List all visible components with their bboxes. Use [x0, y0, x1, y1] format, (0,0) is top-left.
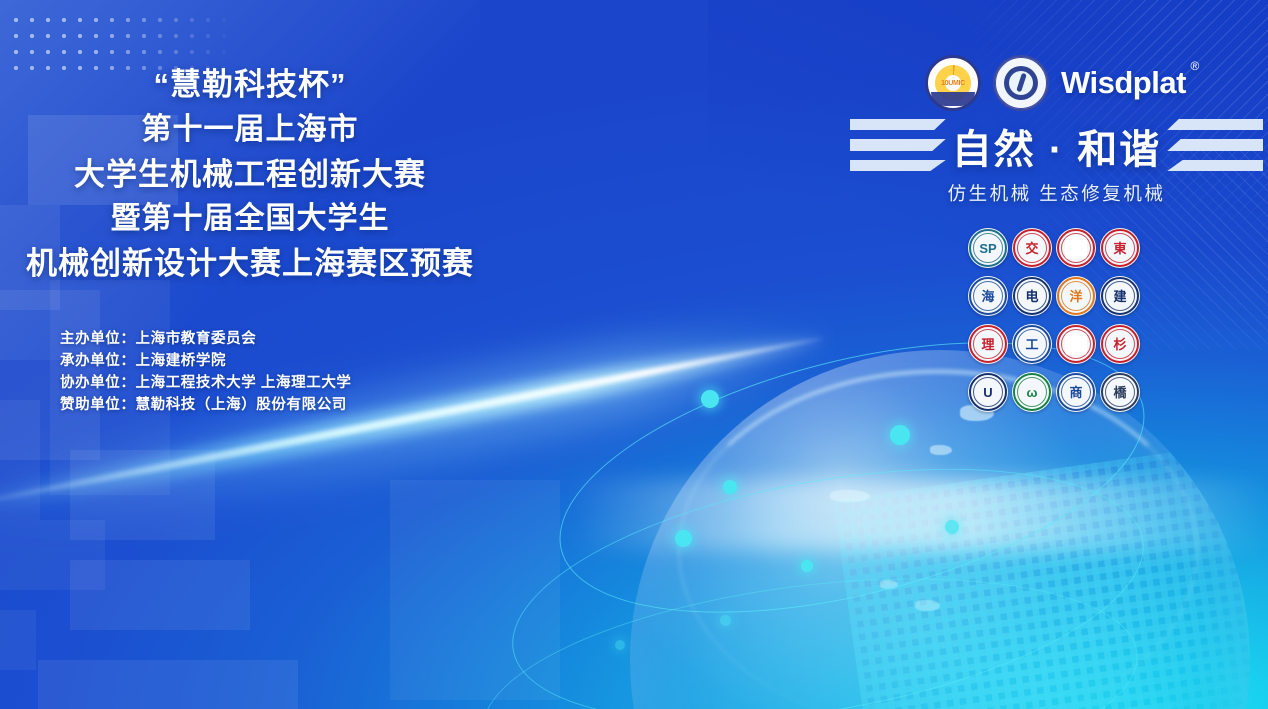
- organizer-block: 主办单位：上海市教育委员会 承办单位：上海建桥学院 协办单位：上海工程技术大学 …: [60, 328, 352, 416]
- gear-seal-icon: [993, 55, 1049, 111]
- emblem-sspu: SP: [968, 228, 1008, 268]
- emblem-glyph: 東: [1109, 237, 1131, 259]
- poster-title-block: “慧勒科技杯” 第十一届上海市 大学生机械工程创新大赛 暨第十届全国大学生 机械…: [0, 62, 500, 286]
- organizer-sponsor: 赞助单位：慧勒科技（上海）股份有限公司: [60, 394, 352, 416]
- emblem-glyph: 电: [1021, 285, 1043, 307]
- emblem-glyph: U: [977, 381, 999, 403]
- emblem-usst: 理: [968, 324, 1008, 364]
- emblem-glyph: 电: [1065, 333, 1087, 355]
- emblem-sit: ω: [1012, 372, 1052, 412]
- emblem-glyph: 商: [1065, 381, 1087, 403]
- emblem-jiaotong: 交: [1012, 228, 1052, 268]
- organizer-undertaker: 承办单位：上海建桥学院: [60, 350, 352, 372]
- globe-graphic: [560, 330, 1268, 709]
- decor-rect-10: [38, 660, 298, 709]
- poster-canvas: “慧勒科技杯” 第十一届上海市 大学生机械工程创新大赛 暨第十届全国大学生 机械…: [0, 0, 1268, 709]
- orbit-node: [723, 480, 737, 494]
- emblem-tongji: 同: [1056, 228, 1096, 268]
- iumic-seal-text: 10UMIC: [941, 80, 965, 87]
- emblem-glyph: 建: [1109, 285, 1131, 307]
- emblem-glyph: 理: [977, 333, 999, 355]
- emblem-glyph: 洋: [1065, 285, 1087, 307]
- chevron-right-stripes-icon: [1167, 117, 1263, 175]
- iumic-seal-icon: 10UMIC: [925, 55, 981, 111]
- title-line-1: “慧勒科技杯”: [0, 62, 500, 108]
- emblem-glyph: 工: [1021, 333, 1043, 355]
- title-line-5: 机械创新设计大赛上海赛区预赛: [0, 241, 500, 286]
- emblem-glyph: 海: [977, 285, 999, 307]
- emblem-ocean: 洋: [1056, 276, 1096, 316]
- emblem-shou: U: [968, 372, 1008, 412]
- orbit-node: [701, 390, 719, 408]
- title-line-2: 第十一届上海市: [0, 108, 500, 152]
- emblem-sues: 工: [1012, 324, 1052, 364]
- university-emblem-grid: SP交同東海电洋建理工电杉Uω商橋: [966, 226, 1142, 418]
- emblem-glyph: SP: [977, 237, 999, 259]
- decor-rect-9: [0, 610, 36, 670]
- decor-rect-8: [70, 560, 250, 630]
- trademark-symbol: ®: [1191, 59, 1199, 73]
- emblem-glyph: 同: [1065, 237, 1087, 259]
- orbit-node: [801, 560, 813, 572]
- orbit-node: [615, 640, 625, 650]
- emblem-glyph: ω: [1021, 381, 1043, 403]
- organizer-host: 主办单位：上海市教育委员会: [60, 328, 352, 350]
- emblem-jianqiao: 橋: [1100, 372, 1140, 412]
- slogan-row: 自然 · 和谐: [845, 110, 1268, 182]
- slogan-main-text: 自然 · 和谐: [952, 117, 1162, 175]
- emblem-maritime: 海: [968, 276, 1008, 316]
- decor-rect-5: [0, 400, 40, 520]
- emblem-gongshang: 商: [1056, 372, 1096, 412]
- title-line-3: 大学生机械工程创新大赛: [0, 152, 500, 197]
- emblem-sanda: 杉: [1100, 324, 1140, 364]
- orbit-node: [890, 425, 910, 445]
- brand-block: 10UMIC Wisdplat® 自然 · 和谐 仿生机械 生态修复机械: [845, 48, 1268, 223]
- brand-logo-row: 10UMIC Wisdplat®: [845, 52, 1268, 114]
- emblem-glyph: 交: [1021, 237, 1043, 259]
- emblem-glyph: 橋: [1109, 381, 1131, 403]
- wisdplat-text: Wisdplat: [1061, 65, 1186, 100]
- orbit-node: [675, 530, 692, 547]
- orbit-node: [720, 615, 731, 626]
- title-line-4: 暨第十届全国大学生: [0, 197, 500, 241]
- chevron-left-stripes-icon: [850, 117, 946, 175]
- slogan-sub-text: 仿生机械 生态修复机械: [845, 180, 1268, 206]
- emblem-glyph: 杉: [1109, 333, 1131, 355]
- organizer-coorganizer: 协办单位：上海工程技术大学 上海理工大学: [60, 372, 352, 394]
- emblem-donghua: 東: [1100, 228, 1140, 268]
- orbit-node: [945, 520, 959, 534]
- emblem-sdju: 建: [1100, 276, 1140, 316]
- emblem-shiep: 电: [1012, 276, 1052, 316]
- wisdplat-wordmark: Wisdplat®: [1061, 65, 1186, 101]
- emblem-dianji: 电: [1056, 324, 1096, 364]
